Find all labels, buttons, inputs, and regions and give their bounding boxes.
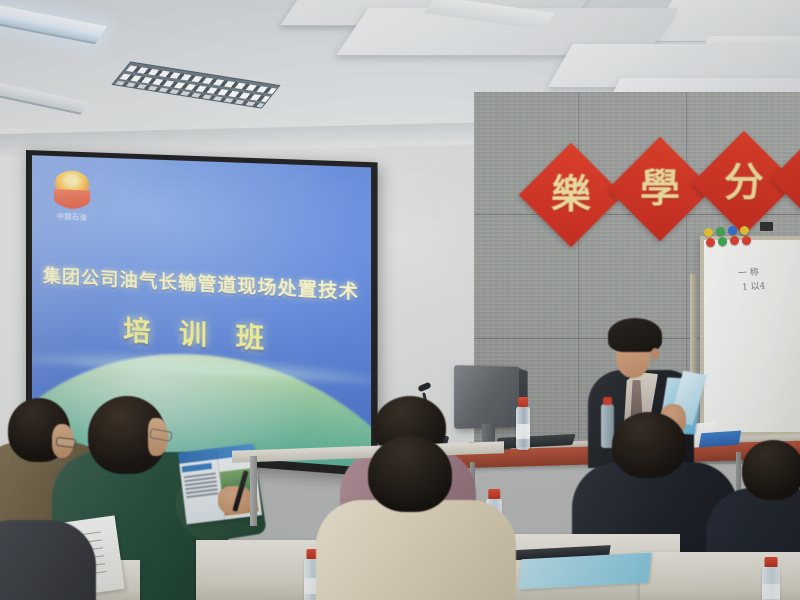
placard-character: 樂 [534, 158, 608, 232]
brochure-text-lines [184, 472, 216, 477]
bottle-cap [488, 489, 500, 499]
magnet-red[interactable] [742, 236, 751, 245]
magnet-green[interactable] [716, 227, 725, 236]
recessed-grille-light [111, 61, 280, 108]
water-bottle-desk-right[interactable] [516, 406, 530, 450]
attendee-torso [0, 520, 96, 600]
magnet-yellow[interactable] [704, 228, 713, 237]
projection-screen-frame: 中国石油 集团公司油气长输管道现场处置技术 培 训 班 [26, 150, 378, 477]
training-room-photo: 樂 學 分 享 一 称 1 以4 [0, 0, 800, 600]
attendee-torso [316, 500, 516, 600]
placard-character: 分 [707, 146, 781, 220]
whiteboard-note-line-2: 1 以4 [742, 278, 800, 294]
desk-blue-folder[interactable] [699, 431, 741, 448]
slide-title: 集团公司油气长输管道现场处置技术 [32, 261, 371, 305]
magnet-yellow[interactable] [740, 226, 749, 235]
whiteboard[interactable]: 一 称 1 以4 [700, 236, 800, 436]
table-leg [250, 456, 257, 526]
wall-panel-seam [578, 92, 579, 464]
magnet-blue[interactable] [728, 226, 737, 235]
attendee-head [742, 440, 800, 500]
ceiling-trim-edge [0, 79, 89, 114]
bottle-label [516, 424, 530, 439]
wall-placard-le: 樂 [519, 143, 624, 248]
water-bottle[interactable] [762, 566, 780, 600]
whiteboard-magnet-group[interactable] [704, 226, 776, 248]
fluorescent-strip-light [0, 4, 107, 45]
attendee-head [368, 436, 452, 512]
cnpc-logo-mark [52, 170, 92, 210]
wall-placard-xue: 學 [608, 137, 713, 242]
cnpc-logo-text: 中国石油 [48, 211, 96, 223]
presenter-ear [651, 348, 659, 360]
placard-character: 學 [623, 152, 697, 226]
presenter-hair [608, 318, 662, 352]
cnpc-sun-logo: 中国石油 [48, 170, 96, 228]
attendee-head [612, 412, 686, 478]
bottle-cap [765, 557, 778, 567]
magnet-red[interactable] [730, 236, 739, 245]
monitor-rear[interactable] [454, 365, 520, 429]
brochure-subhead-band [182, 463, 213, 473]
whiteboard-surface[interactable]: 一 称 1 以4 [700, 236, 800, 436]
bottle-label [762, 584, 780, 599]
magnet-green[interactable] [718, 237, 727, 246]
projection-screen-surface: 中国石油 集团公司油气长输管道现场处置技术 培 训 班 [32, 155, 371, 468]
magnet-red[interactable] [706, 238, 715, 247]
bottle-cap [518, 397, 528, 407]
placard-character: 享 [786, 142, 800, 216]
